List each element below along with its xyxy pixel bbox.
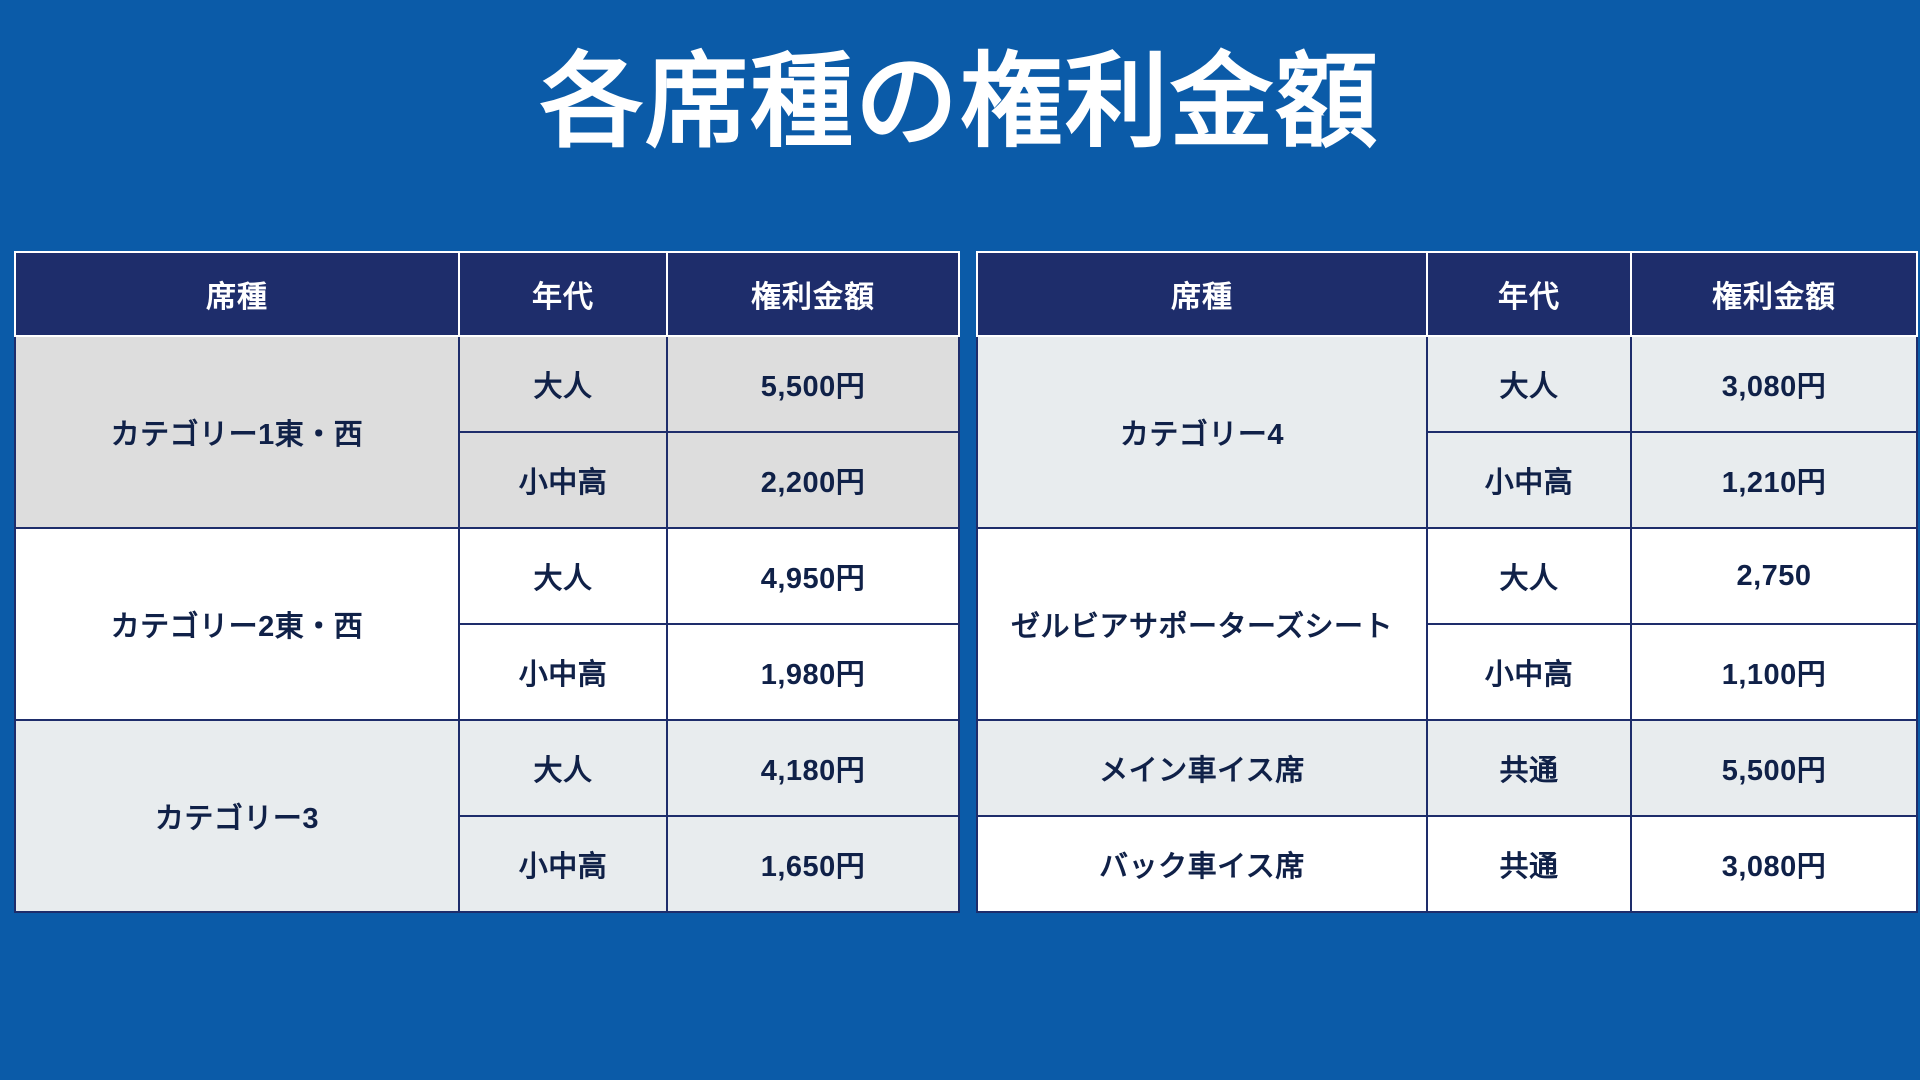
price-value: 5,500円	[1631, 720, 1917, 816]
table-row: メイン車イス席 共通 5,500円	[977, 720, 1917, 816]
age-label: 大人	[1427, 336, 1631, 432]
seat-label: カテゴリー2東・西	[15, 528, 459, 720]
price-value: 4,180円	[667, 720, 959, 816]
age-label: 共通	[1427, 816, 1631, 912]
column-header-age: 年代	[1427, 252, 1631, 336]
price-value: 2,200円	[667, 432, 959, 528]
column-header-age: 年代	[459, 252, 667, 336]
price-value: 3,080円	[1631, 816, 1917, 912]
seat-label: バック車イス席	[977, 816, 1427, 912]
age-label: 共通	[1427, 720, 1631, 816]
age-label: 小中高	[459, 816, 667, 912]
table-row: カテゴリー2東・西 大人 4,950円	[15, 528, 959, 624]
column-header-seat: 席種	[977, 252, 1427, 336]
tables-container: 席種 年代 権利金額 カテゴリー1東・西 大人 5,500円 小中高 2,200…	[14, 251, 1914, 913]
table-row: カテゴリー1東・西 大人 5,500円	[15, 336, 959, 432]
left-table-body: カテゴリー1東・西 大人 5,500円 小中高 2,200円 カテゴリー2東・西…	[15, 336, 959, 912]
right-price-table: 席種 年代 権利金額 カテゴリー4 大人 3,080円 小中高 1,210円 ゼ…	[976, 251, 1918, 913]
left-price-table: 席種 年代 権利金額 カテゴリー1東・西 大人 5,500円 小中高 2,200…	[14, 251, 960, 913]
age-label: 小中高	[459, 624, 667, 720]
seat-label: カテゴリー4	[977, 336, 1427, 528]
slide-root: 各席種の権利金額 席種 年代 権利金額 カテゴリー1東・西 大人 5,500円	[0, 0, 1920, 1080]
table-row: カテゴリー3 大人 4,180円	[15, 720, 959, 816]
age-label: 小中高	[1427, 432, 1631, 528]
table-row: バック車イス席 共通 3,080円	[977, 816, 1917, 912]
column-header-price: 権利金額	[667, 252, 959, 336]
price-value: 1,650円	[667, 816, 959, 912]
age-label: 大人	[459, 336, 667, 432]
page-title: 各席種の権利金額	[0, 38, 1920, 167]
price-value: 3,080円	[1631, 336, 1917, 432]
age-label: 大人	[459, 720, 667, 816]
price-value: 4,950円	[667, 528, 959, 624]
price-value: 1,100円	[1631, 624, 1917, 720]
seat-label: メイン車イス席	[977, 720, 1427, 816]
seat-label: ゼルビアサポーターズシート	[977, 528, 1427, 720]
table-row: カテゴリー4 大人 3,080円	[977, 336, 1917, 432]
age-label: 小中高	[1427, 624, 1631, 720]
seat-label: カテゴリー1東・西	[15, 336, 459, 528]
column-header-price: 権利金額	[1631, 252, 1917, 336]
price-value: 2,750	[1631, 528, 1917, 624]
age-label: 小中高	[459, 432, 667, 528]
table-header-row: 席種 年代 権利金額	[15, 252, 959, 336]
column-header-seat: 席種	[15, 252, 459, 336]
age-label: 大人	[459, 528, 667, 624]
table-row: ゼルビアサポーターズシート 大人 2,750	[977, 528, 1917, 624]
price-value: 1,210円	[1631, 432, 1917, 528]
right-table-body: カテゴリー4 大人 3,080円 小中高 1,210円 ゼルビアサポーターズシー…	[977, 336, 1917, 912]
price-value: 5,500円	[667, 336, 959, 432]
price-value: 1,980円	[667, 624, 959, 720]
seat-label: カテゴリー3	[15, 720, 459, 912]
table-header-row: 席種 年代 権利金額	[977, 252, 1917, 336]
age-label: 大人	[1427, 528, 1631, 624]
